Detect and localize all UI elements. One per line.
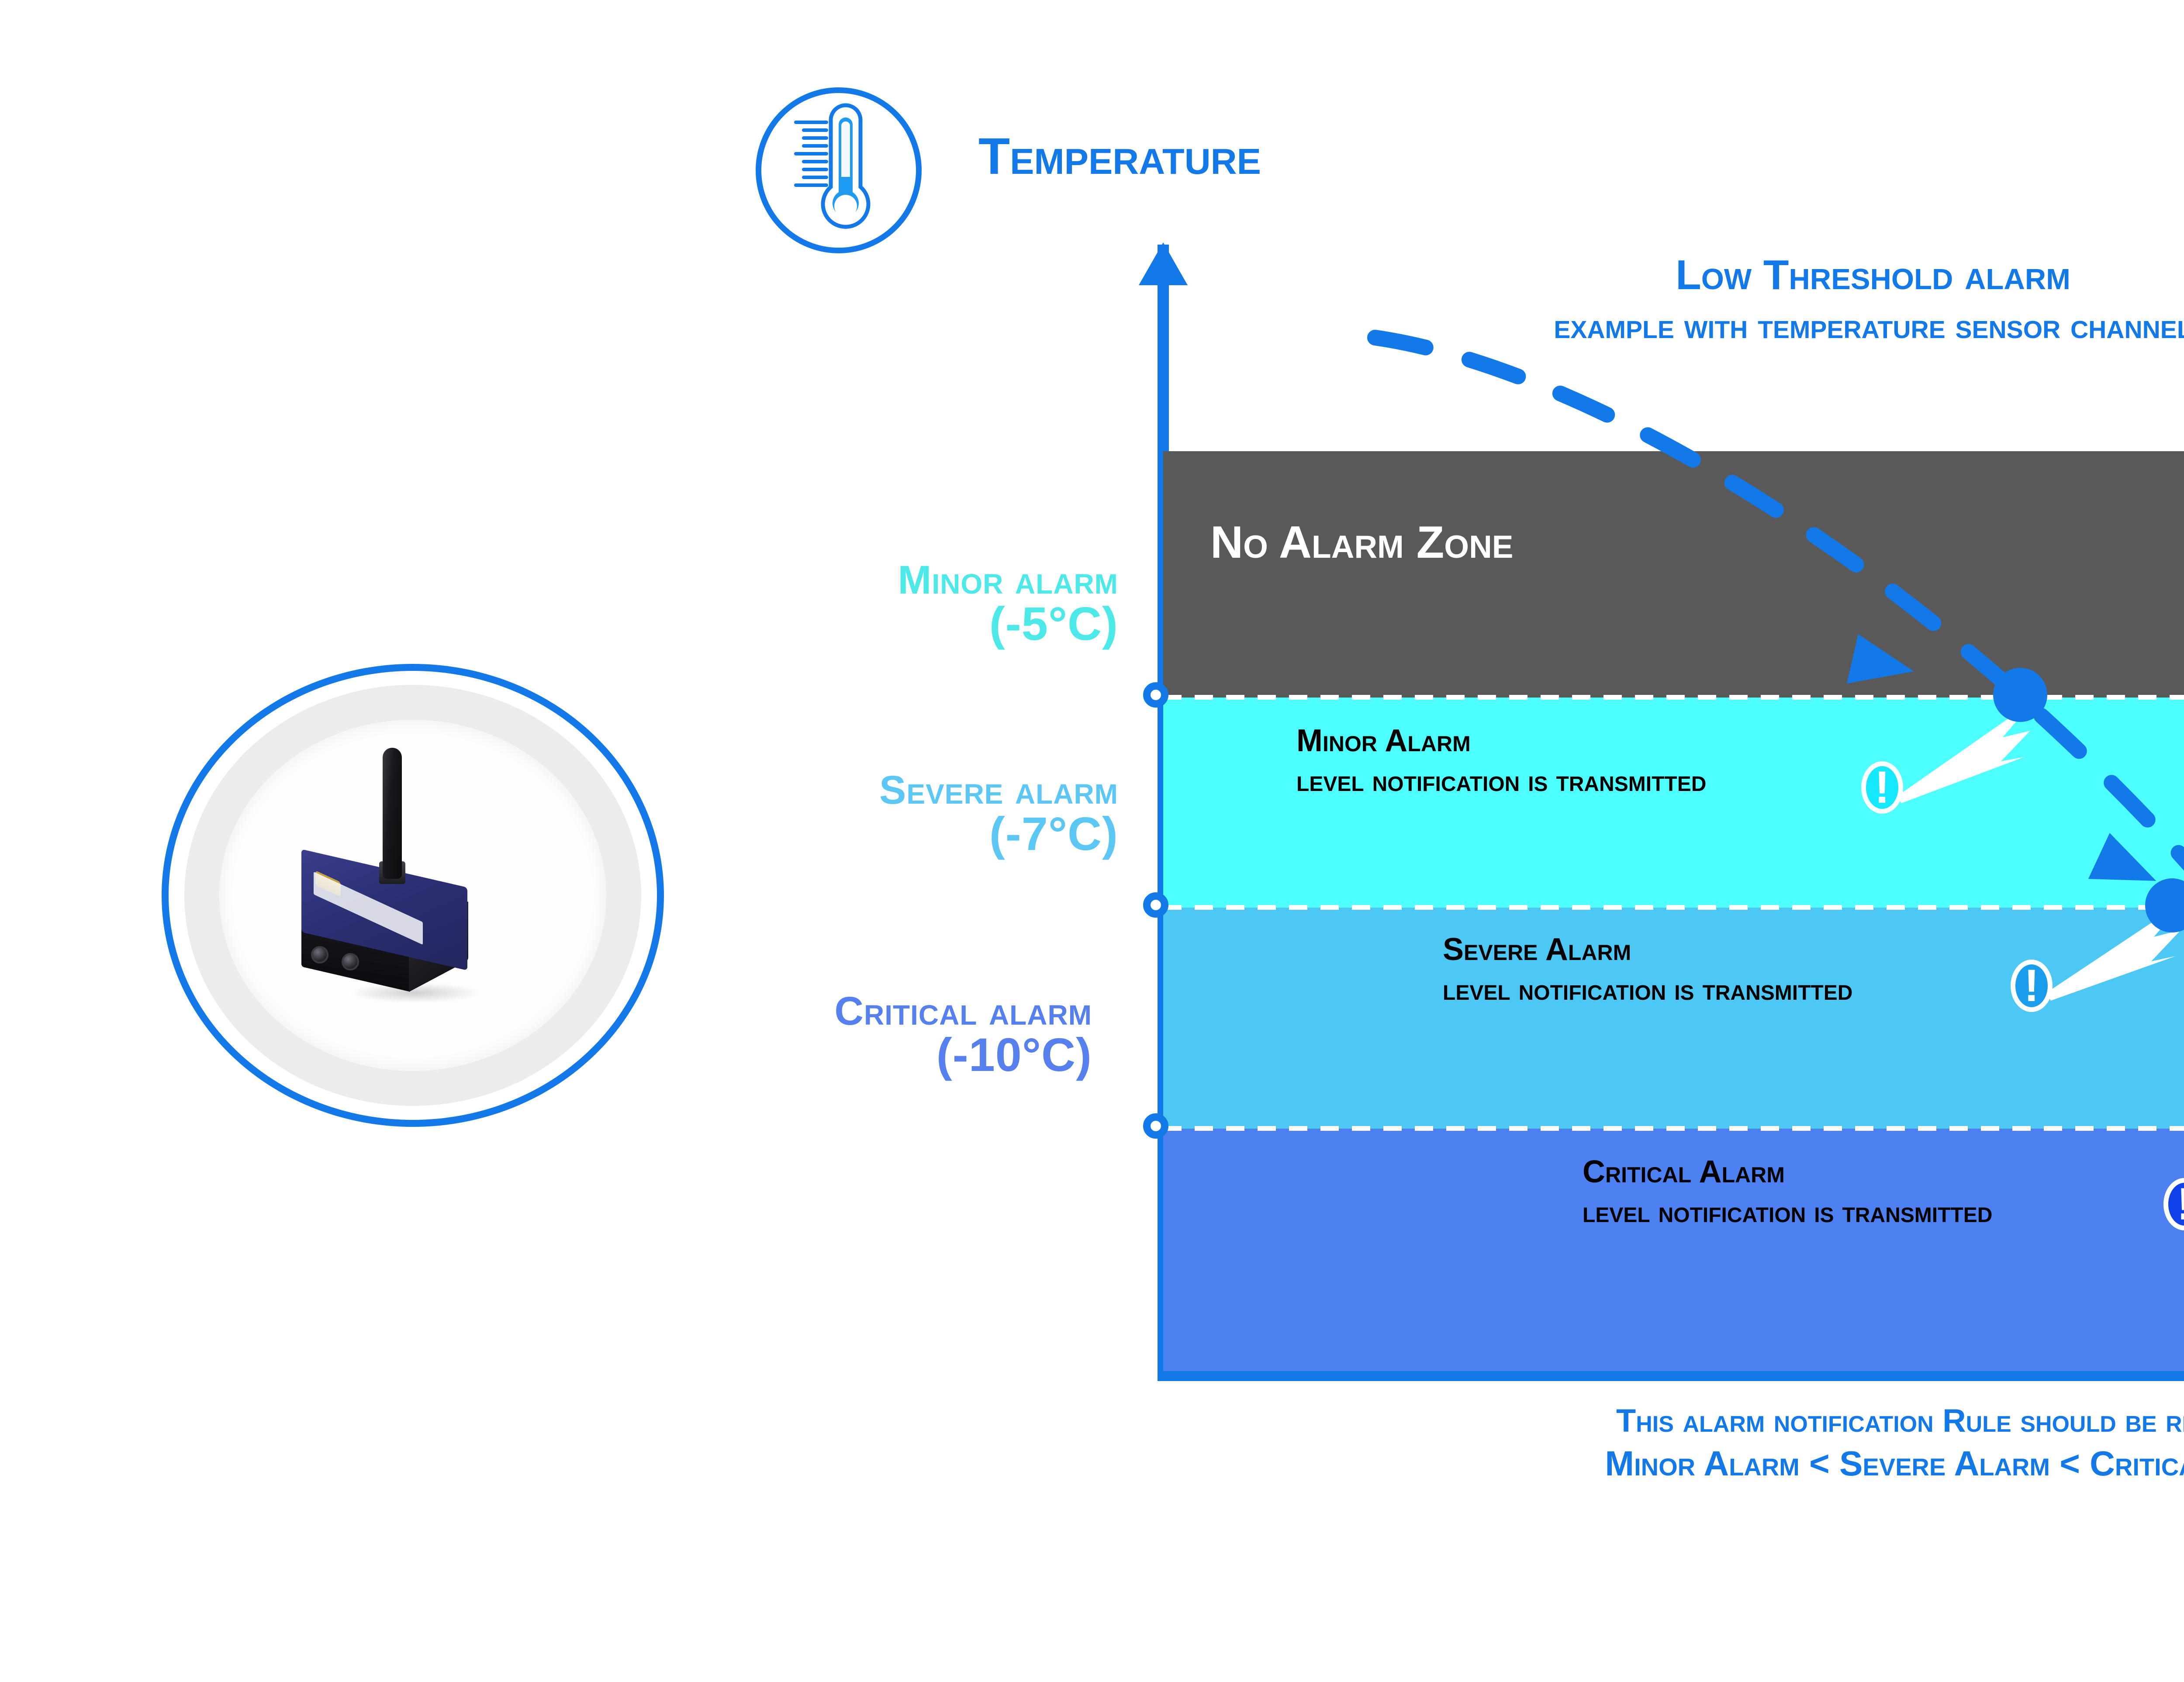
- alert-badge-severe-mark: !: [2024, 967, 2039, 1005]
- chart-subtitle: example with temperature sensor channel: [1163, 306, 2184, 347]
- chart-title: Low Threshold alarm: [1163, 251, 2184, 299]
- y-tick-marker-minor: [1143, 682, 1168, 708]
- footer-note-line2: Minor Alarm < Severe Alarm < Critical Al…: [1163, 1444, 2184, 1484]
- threshold-label-critical-value: (-10°C): [716, 1031, 1092, 1078]
- device-connector-2: [342, 953, 359, 971]
- y-tick-marker-severe: [1143, 892, 1168, 918]
- threshold-label-critical-name: Critical alarm: [716, 991, 1092, 1031]
- y-axis-title: Temperature: [978, 127, 1261, 186]
- alert-badge-minor: !: [1861, 761, 1903, 814]
- alert-badge-minor-mark: !: [1875, 768, 1890, 807]
- threshold-label-critical: Critical alarm (-10°C): [716, 991, 1092, 1078]
- temperature-trend-curve: [1163, 338, 2184, 1395]
- y-tick-marker-critical: [1143, 1113, 1168, 1139]
- thermometer-glyph: [756, 87, 922, 253]
- threshold-label-minor-name: Minor alarm: [743, 560, 1118, 600]
- footer-note-line1: This alarm notification Rule should be r…: [1163, 1402, 2184, 1439]
- alert-badge-critical-mark: !: [2177, 1185, 2184, 1223]
- thermometer-icon: [756, 87, 922, 253]
- device-label-sticker: [314, 872, 423, 945]
- footer-note: This alarm notification Rule should be r…: [1163, 1402, 2184, 1484]
- threshold-label-minor: Minor alarm (-5°C): [743, 560, 1118, 647]
- threshold-label-minor-value: (-5°C): [743, 600, 1118, 647]
- threshold-label-severe-name: Severe alarm: [743, 770, 1118, 810]
- threshold-label-severe-value: (-7°C): [743, 810, 1118, 857]
- device-antenna: [383, 748, 402, 879]
- crossing-point-minor: [1993, 668, 2047, 722]
- lorawan-sensor-device: [301, 852, 489, 983]
- chart-plot-area: No Alarm Zone Minor Alarm level notifica…: [1163, 451, 2184, 1371]
- alert-badge-severe: !: [2011, 960, 2053, 1012]
- device-connector-1: [311, 946, 328, 964]
- threshold-label-severe: Severe alarm (-7°C): [743, 770, 1118, 857]
- device-photo-frame: [162, 664, 664, 1127]
- crossing-point-severe: [2145, 878, 2184, 933]
